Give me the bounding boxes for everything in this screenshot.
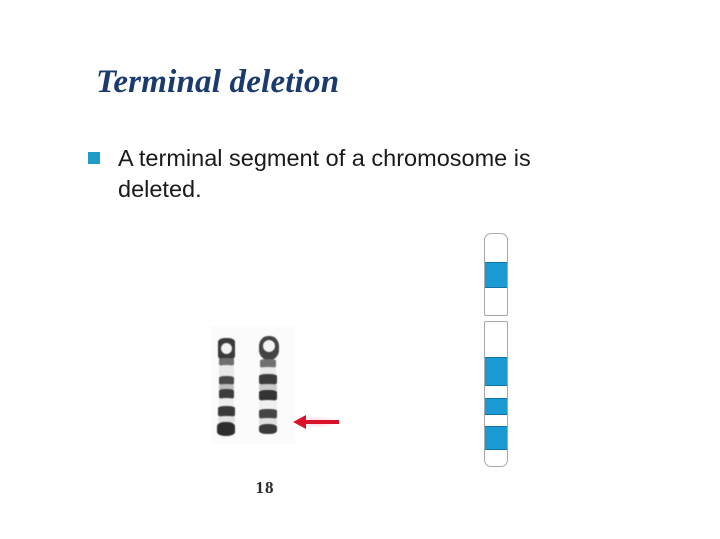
- slide-canvas: Terminal deletion A terminal segment of …: [0, 0, 720, 539]
- bullet-list-item: A terminal segment of a chromosome is de…: [88, 143, 648, 205]
- chromosome-number-caption: 18: [225, 478, 305, 498]
- page-title: Terminal deletion: [96, 62, 339, 102]
- red-arrow-icon: [293, 415, 339, 429]
- ideogram-band-q2: [484, 398, 508, 415]
- ideogram-band-q3: [484, 426, 508, 450]
- bullet-item-label: A terminal segment of a chromosome is de…: [118, 143, 618, 205]
- chromosome-photo-figure: 18: [205, 326, 350, 451]
- chromosome-ideogram: [484, 233, 508, 467]
- square-bullet-icon: [88, 152, 100, 164]
- ideogram-p-arm: [484, 233, 508, 316]
- ideogram-band-q1: [484, 357, 508, 386]
- ideogram-band-p1: [484, 262, 508, 288]
- arrow-shaft: [304, 420, 339, 424]
- ideogram-q-arm: [484, 321, 508, 467]
